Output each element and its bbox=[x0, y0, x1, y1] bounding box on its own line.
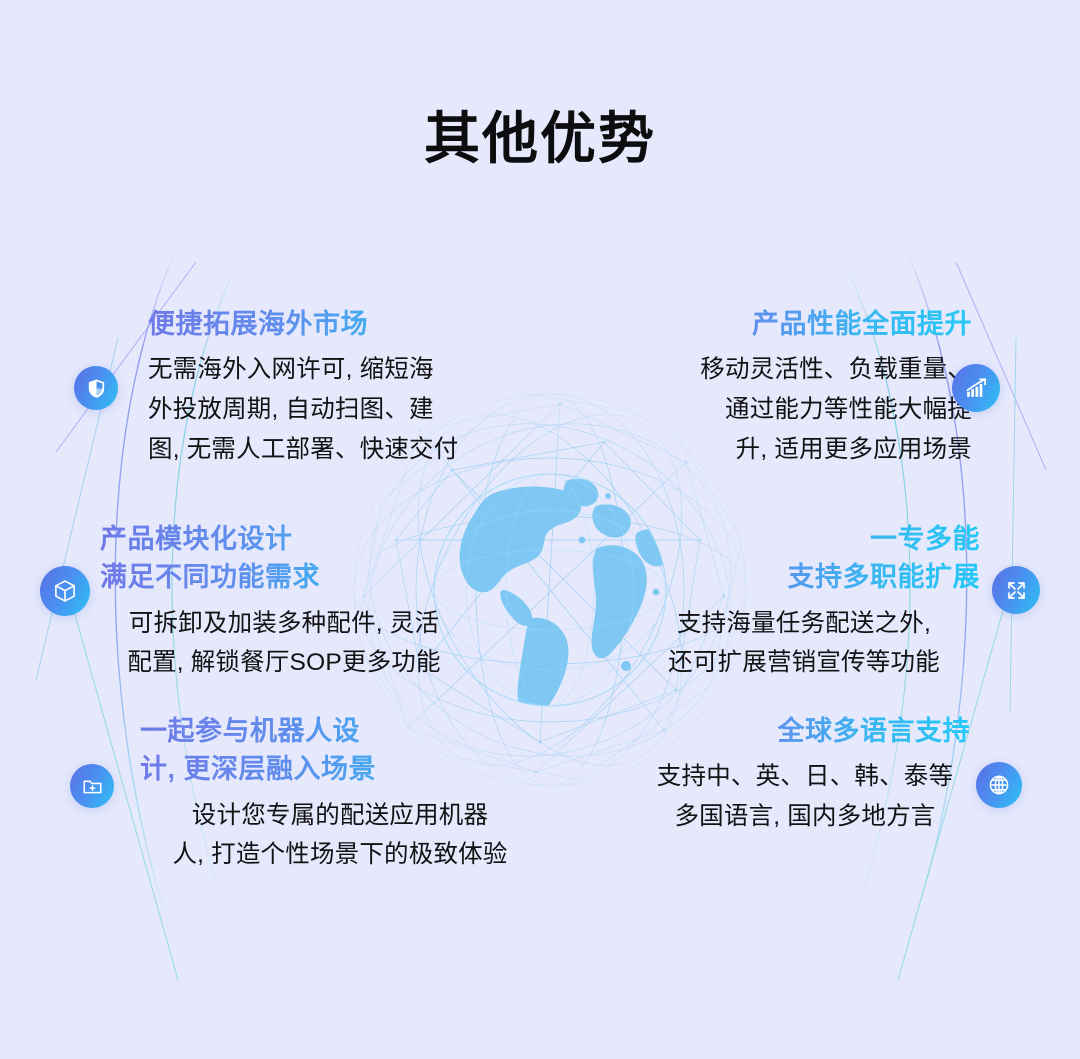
feature-body: 移动灵活性、负载重量、 通过能力等性能大幅提 升, 适用更多应用场景 bbox=[622, 350, 972, 469]
feature-body: 支持海量任务配送之外, 还可扩展营销宣传等功能 bbox=[628, 604, 980, 683]
shield-icon bbox=[74, 366, 118, 410]
feature-modular-design: 产品模块化设计 满足不同功能需求 可拆卸及加装多种配件, 灵活 配置, 解锁餐厅… bbox=[100, 520, 468, 683]
feature-multifunction-expansion: 一专多能 支持多职能扩展 支持海量任务配送之外, 还可扩展营销宣传等功能 bbox=[628, 520, 980, 683]
feature-heading: 产品模块化设计 满足不同功能需求 bbox=[100, 520, 468, 597]
feature-overseas-market: 便捷拓展海外市场 无需海外入网许可, 缩短海 外投放周期, 自动扫图、建 图, … bbox=[148, 305, 508, 469]
feature-multilanguage-support: 全球多语言支持 支持中、英、日、韩、泰等 多国语言, 国内多地方言 bbox=[640, 712, 970, 837]
globe-icon bbox=[976, 762, 1022, 808]
feature-heading: 便捷拓展海外市场 bbox=[148, 305, 508, 343]
feature-body: 支持中、英、日、韩、泰等 多国语言, 国内多地方言 bbox=[640, 757, 970, 836]
feature-body: 设计您专属的配送应用机器 人, 打造个性场景下的极致体验 bbox=[140, 796, 540, 875]
chart-growth-icon bbox=[952, 364, 1000, 412]
feature-heading: 一专多能 支持多职能扩展 bbox=[628, 520, 980, 597]
feature-body: 可拆卸及加装多种配件, 灵活 配置, 解锁餐厅SOP更多功能 bbox=[100, 604, 468, 683]
cube-icon bbox=[40, 566, 90, 616]
feature-heading: 产品性能全面提升 bbox=[622, 305, 972, 343]
page-title: 其他优势 bbox=[0, 108, 1080, 171]
feature-heading: 一起参与机器人设 计, 更深层融入场景 bbox=[140, 712, 540, 789]
feature-body: 无需海外入网许可, 缩短海 外投放周期, 自动扫图、建 图, 无需人工部署、快速… bbox=[148, 350, 508, 469]
feature-performance-upgrade: 产品性能全面提升 移动灵活性、负载重量、 通过能力等性能大幅提 升, 适用更多应… bbox=[622, 305, 972, 469]
feature-heading: 全球多语言支持 bbox=[640, 712, 970, 750]
expand-arrows-icon bbox=[992, 566, 1040, 614]
folder-plus-icon bbox=[70, 764, 114, 808]
feature-robot-codesign: 一起参与机器人设 计, 更深层融入场景 设计您专属的配送应用机器 人, 打造个性… bbox=[140, 712, 540, 875]
